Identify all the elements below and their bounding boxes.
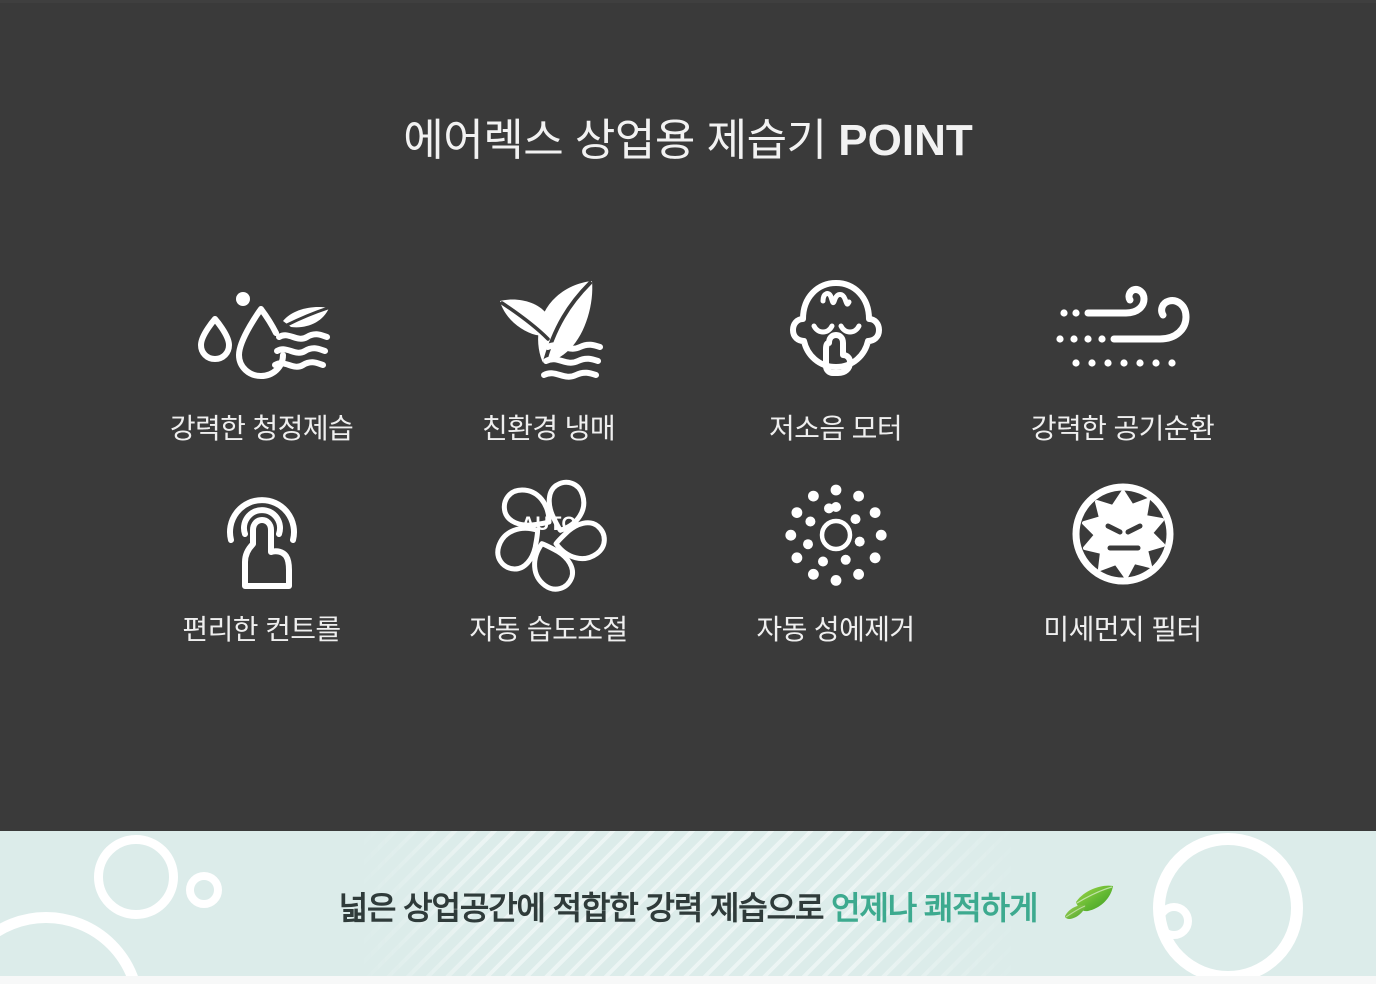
feature-label: 미세먼지 필터 (1043, 611, 1201, 649)
feature-label: 저소음 모터 (769, 410, 902, 448)
feature-label: 강력한 청정제습 (170, 410, 353, 448)
feature-label: 자동 습도조절 (469, 611, 627, 649)
touch-tap-control-icon (187, 473, 337, 595)
feature-item-air-circulation[interactable]: 강력한 공기순환 (979, 272, 1266, 448)
green-leaf-icon (1063, 884, 1115, 928)
banner-tagline: 넓은 상업공간에 적합한 강력 제습으로 언제나 쾌적하게 (0, 886, 1376, 930)
feature-label: 자동 성에제거 (756, 611, 914, 649)
feature-item-eco-refrigerant[interactable]: 친환경 냉매 (405, 272, 692, 448)
sleeping-baby-quiet-icon (761, 272, 911, 394)
page-title-bold: POINT (838, 116, 972, 165)
feature-row-2: 편리한 컨트롤 (118, 473, 1266, 649)
dust-germ-filter-icon (1048, 473, 1198, 595)
water-drop-leaf-airflow-icon (187, 272, 337, 394)
page-title-plain: 에어렉스 상업용 제습기 (403, 116, 838, 165)
wind-circulation-icon (1048, 272, 1198, 394)
promo-page: 에어렉스 상업용 제습기 POINT (0, 0, 1376, 984)
feature-label: 강력한 공기순환 (1031, 410, 1214, 448)
feature-item-easy-control[interactable]: 편리한 컨트롤 (118, 473, 405, 649)
feature-grid: 강력한 청정제습 (118, 272, 1266, 649)
feature-item-auto-humidity[interactable]: AUTO 자동 습도조절 (405, 473, 692, 649)
feature-item-low-noise-motor[interactable]: 저소음 모터 (692, 272, 979, 448)
hero-section: 에어렉스 상업용 제습기 POINT (0, 0, 1376, 831)
frost-dots-defrost-icon (761, 473, 911, 595)
feature-item-clean-dehumidify[interactable]: 강력한 청정제습 (118, 272, 405, 448)
feature-item-auto-defrost[interactable]: 자동 성에제거 (692, 473, 979, 649)
footer-strip (0, 976, 1376, 984)
hero-top-divider (0, 0, 1376, 3)
feature-label: 편리한 컨트롤 (182, 611, 340, 649)
auto-fan-inner-text: AUTO (521, 514, 576, 535)
page-title: 에어렉스 상업용 제습기 POINT (0, 112, 1376, 170)
banner-tagline-accent: 언제나 쾌적하게 (831, 890, 1037, 926)
feature-item-dust-filter[interactable]: 미세먼지 필터 (979, 473, 1266, 649)
feature-row-1: 강력한 청정제습 (118, 272, 1266, 448)
feature-label: 친환경 냉매 (482, 410, 615, 448)
auto-fan-humidity-icon: AUTO (474, 473, 624, 595)
banner-tagline-lead: 넓은 상업공간에 적합한 강력 제습으로 (339, 890, 831, 926)
eco-leaves-airflow-icon (474, 272, 624, 394)
